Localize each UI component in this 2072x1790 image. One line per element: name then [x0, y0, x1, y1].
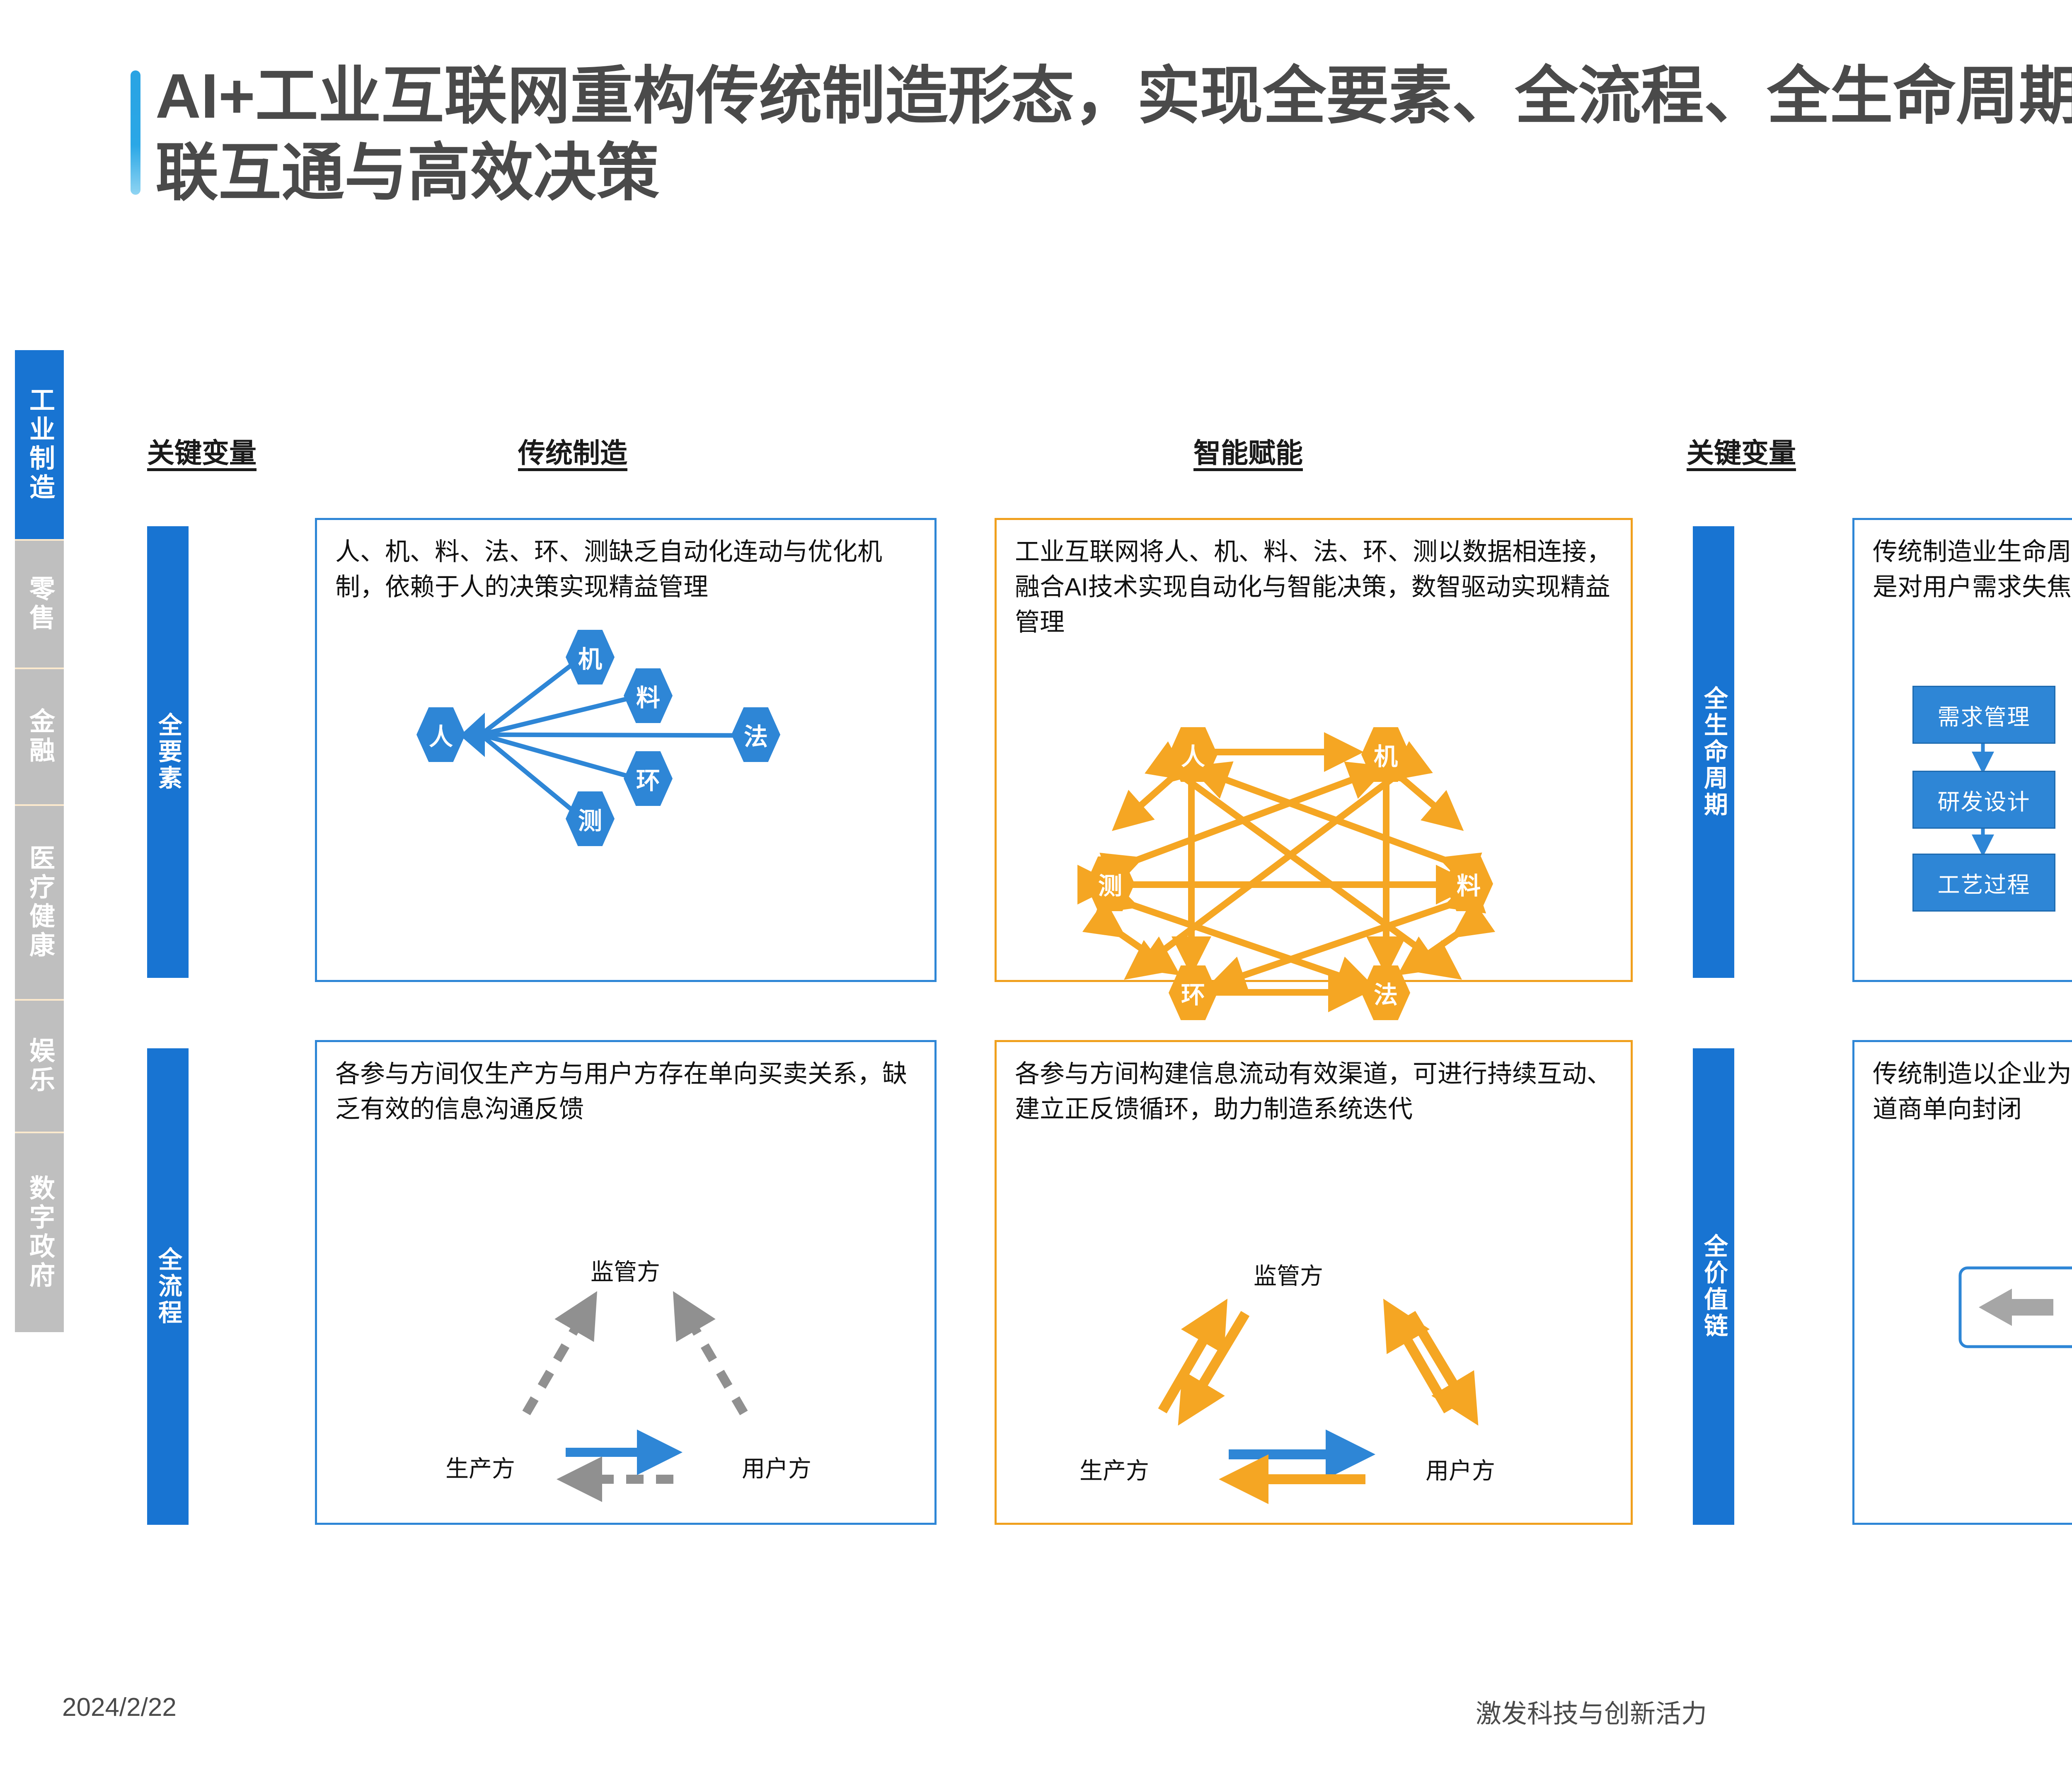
node-ji: 机: [566, 630, 615, 685]
panel-quanyaosu-intelligent: 工业互联网将人、机、料、法、环、测以数据相连接，融合AI技术实现自动化与智能决策…: [995, 518, 1633, 982]
node-ren: 人: [416, 707, 465, 762]
node-ce: 测: [566, 791, 615, 846]
col-header-intelligent-left: 智能赋能: [1193, 431, 1303, 471]
node-liao: 料: [624, 668, 673, 723]
node-ce: 测: [1086, 856, 1135, 911]
sidebar-item-label: 金融: [21, 708, 58, 766]
row-tab-quanshengmingzhouqi[interactable]: 全生命周期: [1693, 526, 1734, 978]
sidebar-item-label: 零售: [21, 575, 58, 633]
node-fa: 法: [731, 707, 780, 762]
panel-quanliucheng-traditional: 各参与方间仅生产方与用户方存在单向买卖关系，缺乏有效的信息沟通反馈 监管方: [315, 1040, 937, 1525]
node-producer: 生产方: [445, 1450, 515, 1484]
row-tab-quanliucheng[interactable]: 全流程: [147, 1048, 189, 1525]
sidebar-item-industrial-manufacturing[interactable]: 工业制造: [15, 350, 64, 541]
panel-quanyaosu-traditional: 人、机、料、法、环、测缺乏自动化连动与优化机制，依赖于人的决策实现精益管理 人 …: [315, 518, 937, 982]
panel-description: 传统制造业生命周期线性转换，以商品为核心，但是对用户需求失焦: [1873, 534, 2072, 605]
node-regulator: 监管方: [1254, 1258, 1323, 1291]
node-user: 用户方: [742, 1450, 811, 1484]
sidebar-item-label: 医疗健康: [21, 844, 58, 960]
slide: AI+工业互联网重构传统制造形态，实现全要素、全流程、全生命周期以及全价值链的互…: [0, 0, 2072, 1790]
col-header-key-variable-left: 关键变量: [147, 431, 257, 471]
sidebar-item-healthcare[interactable]: 医疗健康: [15, 806, 64, 1001]
industry-sidebar: 工业制造 零售 金融 医疗健康 娱乐 数字政府: [15, 350, 64, 1332]
sidebar-item-retail[interactable]: 零售: [15, 541, 64, 669]
sidebar-item-label: 娱乐: [21, 1037, 58, 1095]
sidebar-item-finance[interactable]: 金融: [15, 669, 64, 806]
footer-slogan: 激发科技与创新活力: [0, 1693, 2072, 1730]
col-header-traditional-left: 传统制造: [518, 431, 627, 471]
sidebar-item-label: 数字政府: [21, 1175, 58, 1291]
panel-lifecycle-traditional: 传统制造业生命周期线性转换，以商品为核心，但是对用户需求失焦 需求管理 研发设计…: [1852, 518, 2072, 982]
panel-description: 工业互联网将人、机、料、法、环、测以数据相连接，融合AI技术实现自动化与智能决策…: [1015, 534, 1616, 640]
node-ren: 人: [1169, 727, 1218, 782]
node-fa: 法: [1361, 965, 1410, 1020]
node-liao: 料: [1444, 856, 1493, 911]
panel-description: 传统制造以企业为核心，工厂、客户、供应商、渠道商单向封闭: [1873, 1056, 2072, 1127]
sidebar-item-digital-government[interactable]: 数字政府: [15, 1133, 64, 1332]
title-accent-bar: [131, 70, 140, 195]
row-tab-quanyaosu[interactable]: 全要素: [147, 526, 189, 978]
node-producer: 生产方: [1080, 1452, 1149, 1486]
step-rnd-design: 研发设计: [1912, 771, 2055, 829]
panel-quanliucheng-intelligent: 各参与方间构建信息流动有效渠道，可进行持续互动、建立正反馈循环，助力制造系统迭代…: [995, 1040, 1633, 1525]
page-title: AI+工业互联网重构传统制造形态，实现全要素、全流程、全生命周期以及全价值链的互…: [155, 58, 2072, 212]
panel-description: 人、机、料、法、环、测缺乏自动化连动与优化机制，依赖于人的决策实现精益管理: [335, 534, 920, 605]
panel-valuechain-traditional: 传统制造以企业为核心，工厂、客户、供应商、渠道商单向封闭 上游 企业 下游: [1852, 1040, 2072, 1525]
node-user: 用户方: [1426, 1452, 1495, 1486]
sidebar-item-entertainment[interactable]: 娱乐: [15, 1001, 64, 1133]
node-huan: 环: [624, 751, 673, 806]
node-ji: 机: [1361, 727, 1410, 782]
row-tab-quanjiazhilian[interactable]: 全价值链: [1693, 1048, 1734, 1525]
step-demand-management: 需求管理: [1912, 686, 2055, 744]
panel-description: 各参与方间构建信息流动有效渠道，可进行持续互动、建立正反馈循环，助力制造系统迭代: [1015, 1056, 1616, 1127]
node-huan: 环: [1169, 965, 1218, 1020]
panel-description: 各参与方间仅生产方与用户方存在单向买卖关系，缺乏有效的信息沟通反馈: [335, 1056, 920, 1127]
node-regulator: 监管方: [591, 1253, 660, 1287]
sidebar-item-label: 工业制造: [21, 387, 58, 503]
col-header-key-variable-right: 关键变量: [1687, 431, 1796, 471]
step-process: 工艺过程: [1912, 854, 2055, 912]
